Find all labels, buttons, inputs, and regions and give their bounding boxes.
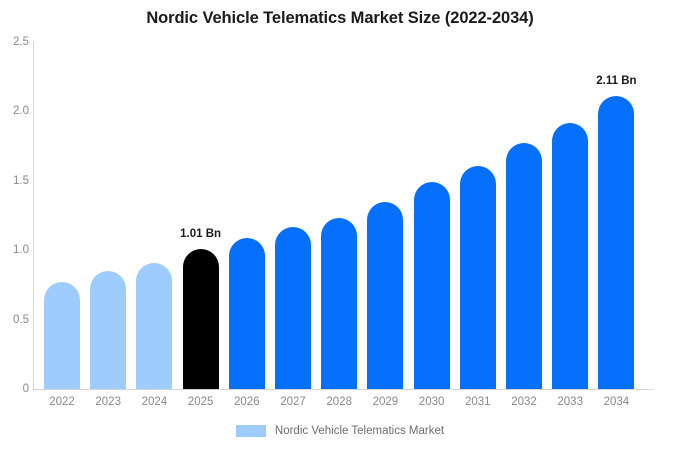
x-axis-tick-label-2034: 2034 xyxy=(586,396,646,408)
bar-group xyxy=(506,42,542,389)
bar-group xyxy=(321,42,357,389)
bar-group xyxy=(44,42,80,389)
y-axis-tick-label: 0 xyxy=(1,383,29,395)
bar-group xyxy=(90,42,126,389)
bar-2032[interactable] xyxy=(506,143,542,389)
bar-group xyxy=(136,42,172,389)
bar-group xyxy=(229,42,265,389)
bar-chart: Nordic Vehicle Telematics Market Size (2… xyxy=(0,0,680,450)
bar-2029[interactable] xyxy=(367,202,403,389)
bar-2028[interactable] xyxy=(321,218,357,389)
bar-group xyxy=(367,42,403,389)
bar-2024[interactable] xyxy=(136,263,172,389)
bar-value-label-2034: 2.11 Bn xyxy=(596,75,636,87)
y-axis-tick-label: 0.5 xyxy=(1,314,29,326)
chart-title: Nordic Vehicle Telematics Market Size (2… xyxy=(0,9,680,28)
bar-2030[interactable] xyxy=(414,182,450,389)
x-axis-line xyxy=(33,389,653,390)
y-axis-tick-labels: 00.51.01.52.02.5 xyxy=(0,0,29,450)
bar-2034[interactable] xyxy=(598,96,634,389)
legend-swatch-icon xyxy=(236,425,266,437)
bar-group xyxy=(460,42,496,389)
plot-area: 1.01 Bn2.11 Bn xyxy=(33,42,653,389)
y-axis-tick-label: 2.0 xyxy=(1,105,29,117)
bar-value-label-2025: 1.01 Bn xyxy=(180,228,221,240)
bar-2023[interactable] xyxy=(90,271,126,389)
bar-group xyxy=(414,42,450,389)
bar-group xyxy=(552,42,588,389)
bar-group xyxy=(275,42,311,389)
bar-group: 2.11 Bn xyxy=(598,42,634,389)
bar-2027[interactable] xyxy=(275,227,311,389)
bar-2031[interactable] xyxy=(460,166,496,389)
legend-label: Nordic Vehicle Telematics Market xyxy=(275,425,444,437)
chart-legend: Nordic Vehicle Telematics Market xyxy=(0,425,680,437)
y-axis-tick-label: 2.5 xyxy=(1,36,29,48)
y-axis-tick-label: 1.5 xyxy=(1,175,29,187)
bar-group: 1.01 Bn xyxy=(183,42,219,389)
bar-2025[interactable] xyxy=(183,249,219,389)
bar-2033[interactable] xyxy=(552,123,588,389)
y-axis-tick-label: 1.0 xyxy=(1,244,29,256)
bar-2026[interactable] xyxy=(229,238,265,389)
bar-2022[interactable] xyxy=(44,282,80,389)
